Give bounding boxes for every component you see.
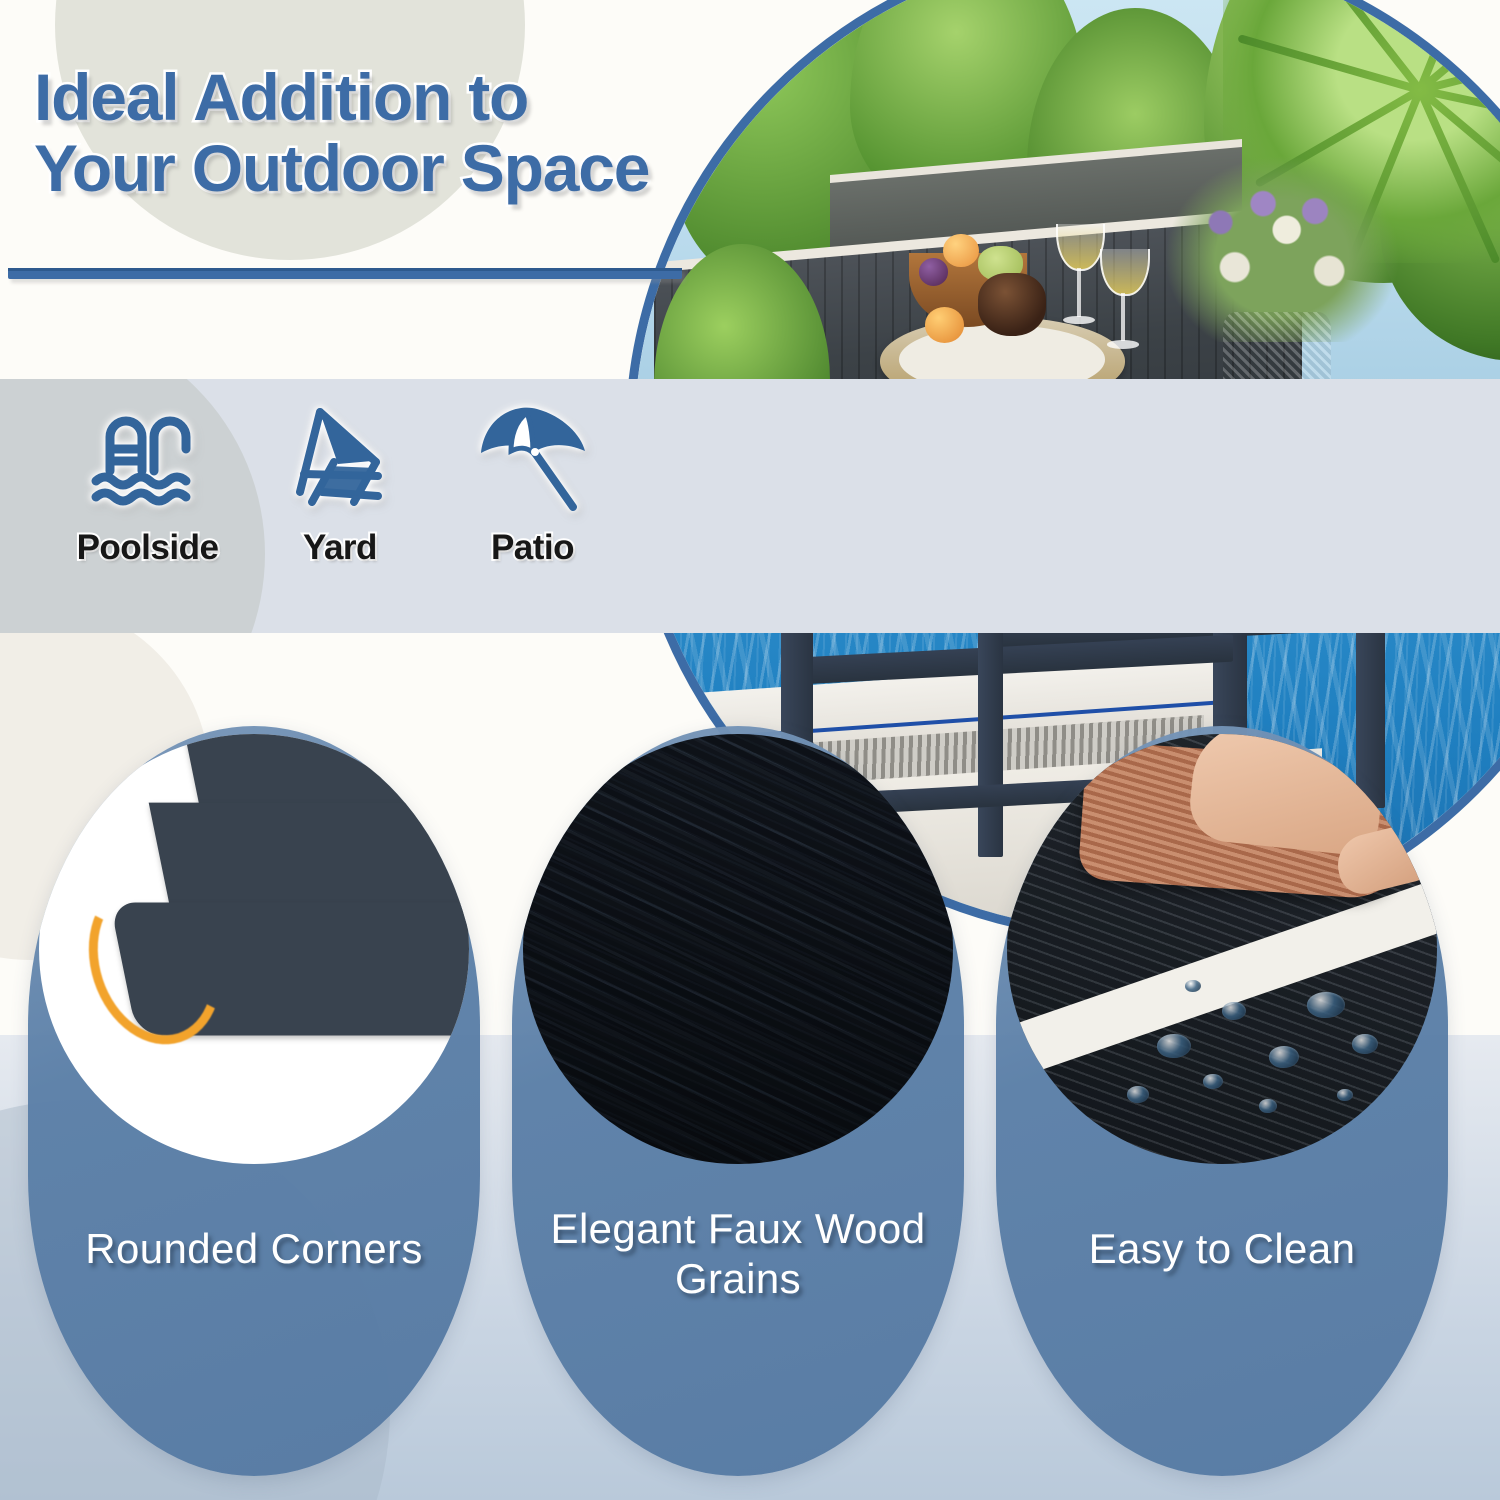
wine-glass: [1056, 224, 1101, 332]
page-title: Ideal Addition to Your Outdoor Space: [34, 62, 714, 205]
water-droplet: [1337, 1089, 1353, 1101]
water-droplet: [1259, 1099, 1277, 1113]
use-case-label: Yard: [303, 528, 377, 568]
peach: [925, 307, 964, 342]
use-case-yard: Yard: [253, 400, 428, 568]
wine-glass: [1100, 249, 1145, 357]
feature-card-list: Rounded Corners Elegant Faux Wood Grains: [0, 726, 1500, 1486]
wood-grain-closeup-image: [523, 734, 953, 1164]
cleaning-closeup-image: [1007, 734, 1437, 1164]
feature-card-caption: Elegant Faux Wood Grains: [526, 1204, 950, 1303]
use-case-list: Poolside Yard: [60, 400, 620, 615]
use-case-label: Poolside: [77, 528, 219, 568]
feature-card-faux-wood-grains[interactable]: Elegant Faux Wood Grains: [512, 726, 964, 1476]
feature-card-rounded-corners[interactable]: Rounded Corners: [28, 726, 480, 1476]
water-droplet: [1222, 1002, 1246, 1020]
feature-card-caption-line-1: Elegant Faux Wood: [526, 1204, 950, 1254]
product-feature-infographic: Ideal Addition to Your Outdoor Space: [0, 0, 1500, 1500]
feature-card-easy-to-clean[interactable]: Easy to Clean: [996, 726, 1448, 1476]
water-droplet: [1307, 992, 1345, 1018]
water-droplet: [1185, 980, 1201, 992]
water-droplet: [1127, 1086, 1149, 1103]
use-case-patio: Patio: [445, 400, 620, 568]
plum: [919, 258, 948, 285]
use-case-poolside: Poolside: [60, 400, 235, 568]
title-underline: [8, 268, 682, 279]
water-droplet: [1203, 1074, 1223, 1089]
table-corner-closeup-image: [39, 734, 469, 1164]
feature-card-caption: Easy to Clean: [1010, 1224, 1434, 1274]
feature-card-caption-line-2: Grains: [526, 1254, 950, 1304]
page-title-line-2: Your Outdoor Space: [34, 133, 714, 204]
use-case-label: Patio: [491, 528, 574, 568]
water-droplet: [1157, 1034, 1191, 1058]
feature-card-caption: Rounded Corners: [42, 1224, 466, 1274]
peach: [943, 234, 978, 267]
water-droplet: [1269, 1046, 1299, 1068]
page-title-line-1: Ideal Addition to: [34, 62, 714, 133]
pool-ladder-icon: [88, 400, 208, 518]
chocolates: [978, 273, 1047, 336]
beach-umbrella-icon: [471, 400, 595, 518]
deck-chair-icon: [282, 400, 398, 518]
water-droplet: [1352, 1034, 1378, 1054]
